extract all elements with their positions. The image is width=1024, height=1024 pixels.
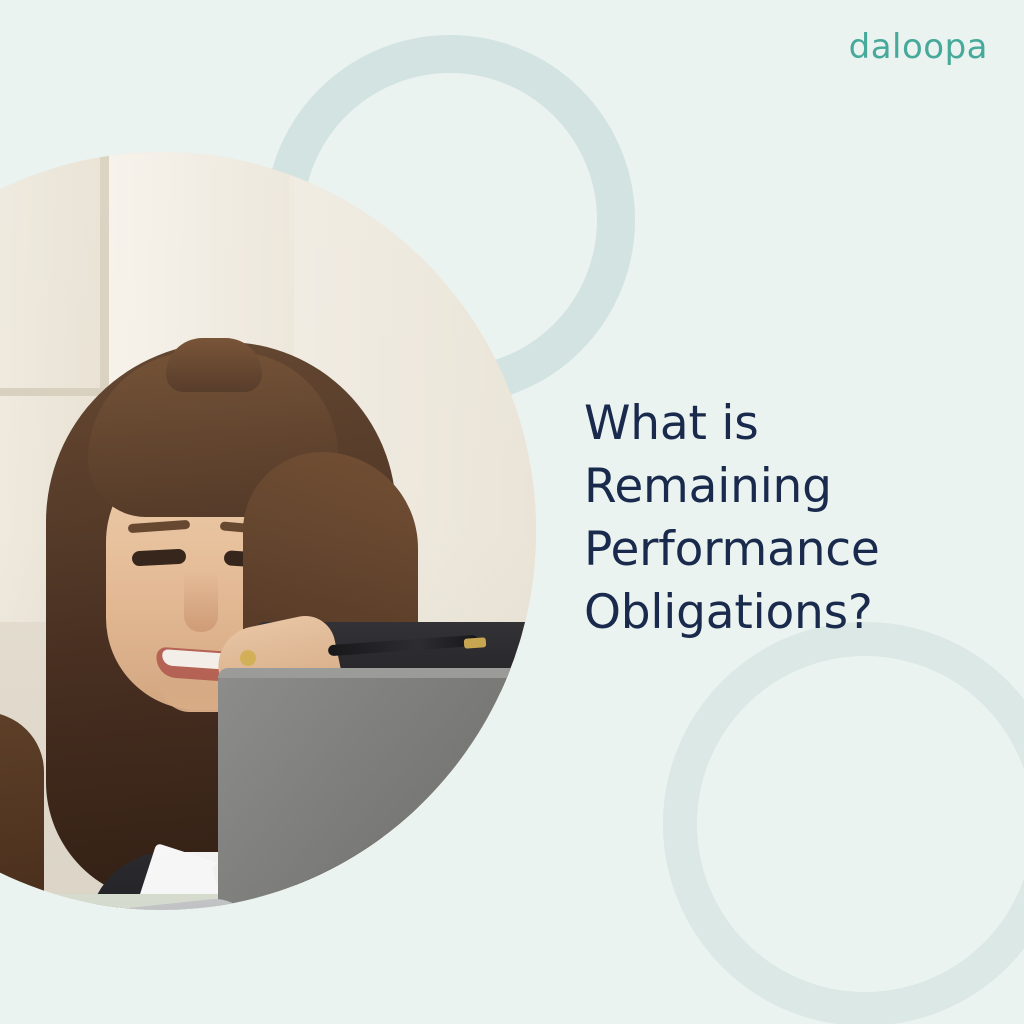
social-card-canvas: daloopa What is Remaining Performance Ob… [0,0,1024,1024]
headline-block: What is Remaining Performance Obligation… [584,392,984,644]
person-right-eye [132,549,187,567]
finger-ring [240,650,256,666]
daloopa-logo[interactable]: daloopa [849,30,988,64]
person-right-nose [184,572,218,632]
page-title: What is Remaining Performance Obligation… [584,392,984,644]
daloopa-logo-text: daloopa [849,30,988,64]
photo-scene [0,152,536,910]
pen-in-hand [464,637,487,649]
decorative-ring-bottom-icon [663,622,1024,1024]
laptop [218,668,532,910]
person-left-hair [0,712,44,910]
laptop [218,668,532,678]
hero-photo [0,152,536,910]
person-right-hair [166,338,262,392]
